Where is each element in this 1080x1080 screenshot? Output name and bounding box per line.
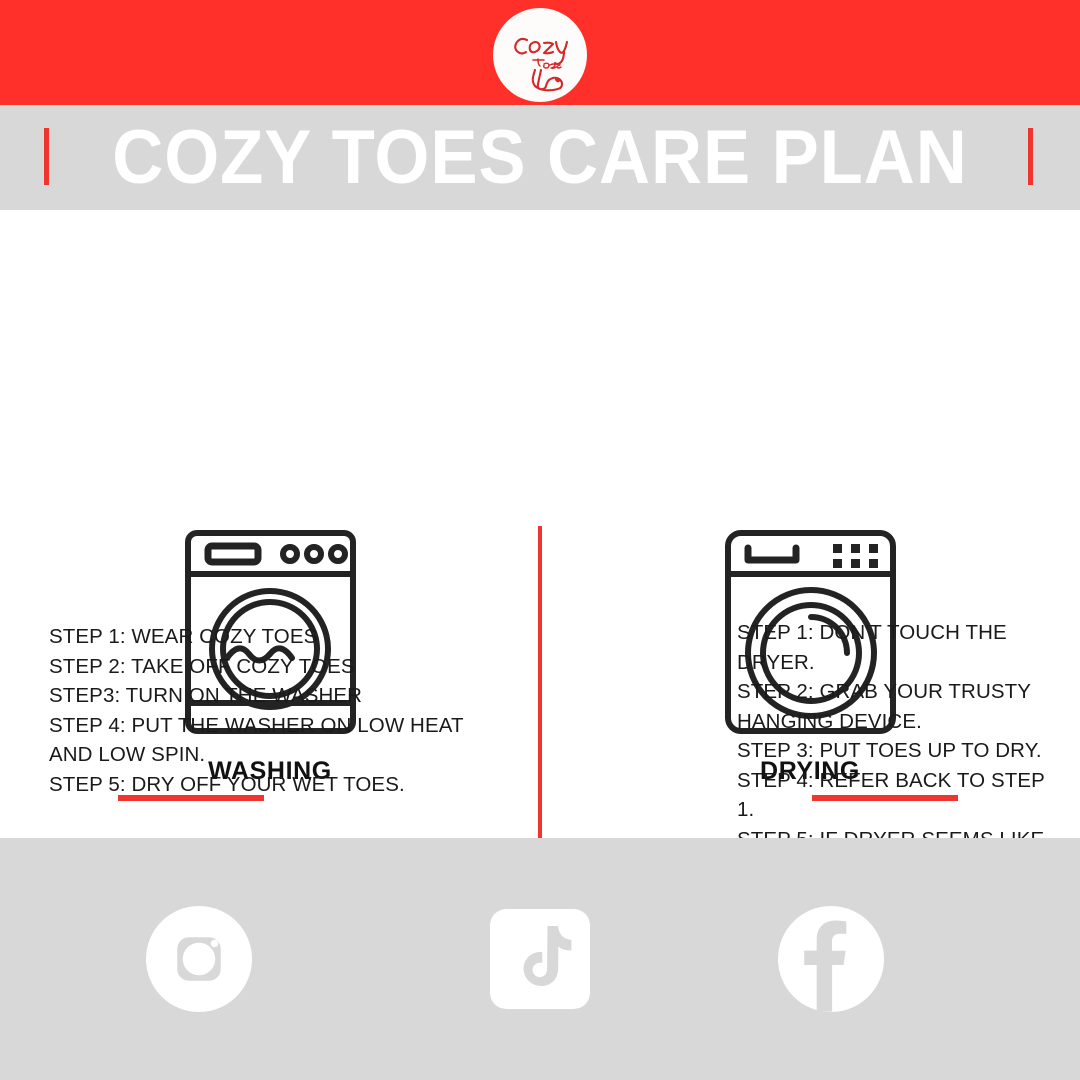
cozy-toes-logo[interactable] (493, 8, 587, 102)
title-tick-left (44, 128, 49, 185)
footer-band (0, 838, 1080, 1080)
facebook-icon[interactable] (750, 838, 912, 1080)
tiktok-icon[interactable] (459, 838, 621, 1080)
title-band: COZY TOES CARE PLAN (0, 105, 1080, 210)
header-bar (0, 0, 1080, 105)
instagram-icon[interactable] (118, 838, 280, 1080)
steps-washing: STEP 1: WEAR COZY TOES STEP 2: TAKE OFF … (49, 622, 469, 799)
main-content: WASHING STEP 1: WEAR COZY TOES STEP 2: T… (0, 210, 1080, 838)
page-title: COZY TOES CARE PLAN (38, 105, 1042, 210)
care-plan-infographic: COZY TOES CARE PLAN (0, 0, 1080, 1080)
title-tick-right (1028, 128, 1033, 185)
